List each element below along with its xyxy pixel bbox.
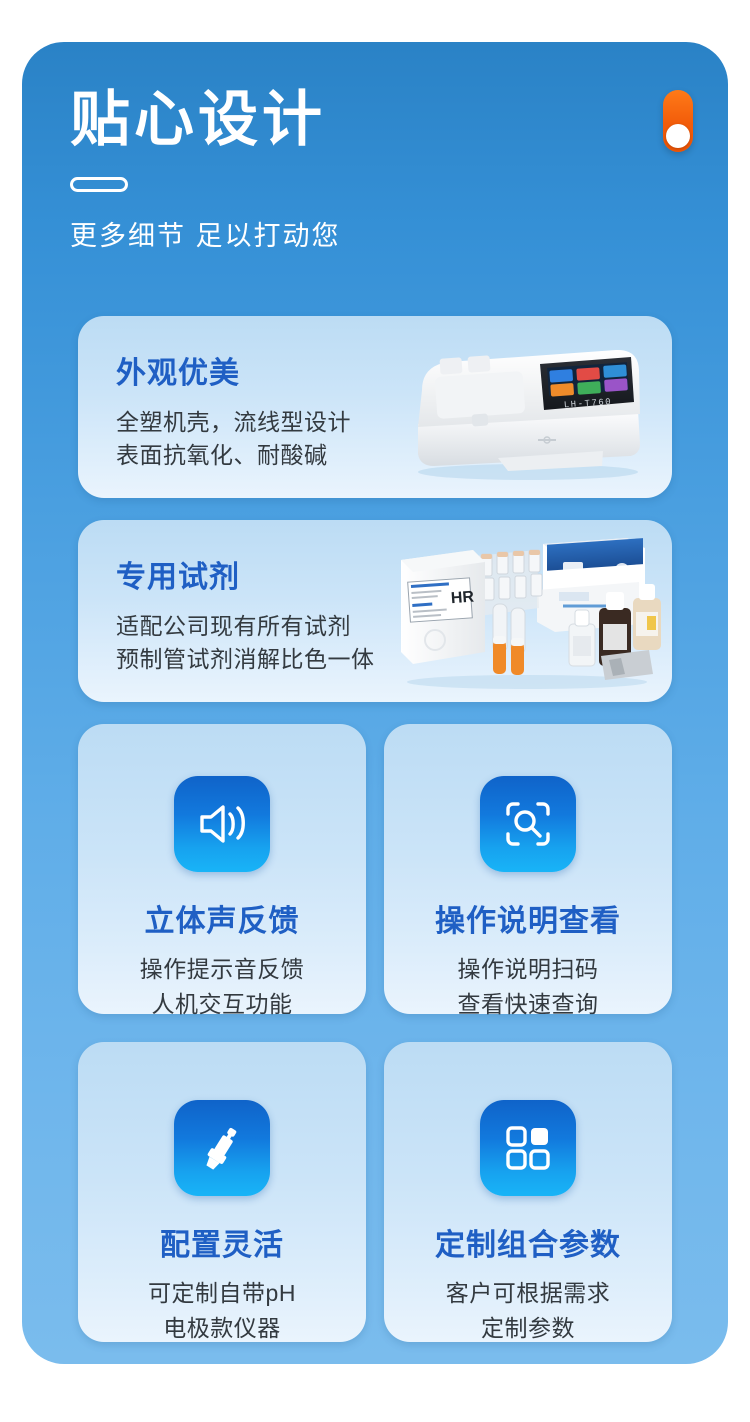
card-text-block: 专用试剂 适配公司现有所有试剂 预制管试剂消解比色一体: [116, 552, 375, 677]
scan-search-icon: [480, 776, 576, 872]
card-description: 适配公司现有所有试剂 预制管试剂消解比色一体: [116, 610, 375, 677]
feature-card-manual-lookup[interactable]: 操作说明查看 操作说明扫码 查看快速查询: [384, 724, 672, 1014]
svg-text:HR: HR: [450, 589, 475, 608]
card-description-line-1: 全塑机壳，流线型设计: [116, 406, 351, 439]
title-underline-decoration: [70, 177, 128, 192]
reagent-kit-image: HR: [387, 532, 662, 690]
card-heading: 外观优美: [116, 348, 351, 392]
promo-panel: 贴心设计 更多细节 足以打动您 外观优美 全塑机壳，流线型设计 表面抗氧化、耐酸…: [22, 42, 728, 1364]
card-description-line-1: 客户可根据需求: [384, 1276, 672, 1311]
card-heading: 定制组合参数: [384, 1220, 672, 1264]
card-description-line-2: 电极款仪器: [78, 1311, 366, 1346]
card-description-line-2: 表面抗氧化、耐酸碱: [116, 439, 351, 472]
feature-card-flexible-config[interactable]: 配置灵活 可定制自带pH 电极款仪器: [78, 1042, 366, 1342]
grid-squares-glyph: [500, 1120, 556, 1176]
feature-card-reagent[interactable]: 专用试剂 适配公司现有所有试剂 预制管试剂消解比色一体: [78, 520, 672, 702]
card-heading: 专用试剂: [116, 552, 375, 596]
card-description-line-2: 人机交互功能: [78, 987, 366, 1022]
card-text-block: 外观优美 全塑机壳，流线型设计 表面抗氧化、耐酸碱: [116, 348, 351, 473]
card-description: 客户可根据需求 定制参数: [384, 1276, 672, 1345]
card-description-line-1: 操作说明扫码: [384, 952, 672, 987]
card-heading: 配置灵活: [78, 1220, 366, 1264]
card-description: 操作说明扫码 查看快速查询: [384, 952, 672, 1021]
card-description: 操作提示音反馈 人机交互功能: [78, 952, 366, 1021]
card-heading: 立体声反馈: [78, 896, 366, 940]
page-title: 贴心设计: [70, 86, 688, 153]
card-description: 全塑机壳，流线型设计 表面抗氧化、耐酸碱: [116, 406, 351, 473]
card-description-line-2: 预制管试剂消解比色一体: [116, 643, 375, 676]
card-heading: 操作说明查看: [384, 896, 672, 940]
header: 贴心设计 更多细节 足以打动您: [70, 86, 688, 253]
card-description-line-2: 查看快速查询: [384, 987, 672, 1022]
card-description-line-1: 操作提示音反馈: [78, 952, 366, 987]
scan-search-glyph: [500, 796, 556, 852]
speaker-volume-glyph: [194, 796, 250, 852]
card-description-line-1: 可定制自带pH: [78, 1276, 366, 1311]
card-description-line-2: 定制参数: [384, 1311, 672, 1346]
card-description: 可定制自带pH 电极款仪器: [78, 1276, 366, 1345]
feature-card-appearance[interactable]: 外观优美 全塑机壳，流线型设计 表面抗氧化、耐酸碱: [78, 316, 672, 498]
toggle-switch-icon[interactable]: [663, 90, 693, 152]
analyzer-instrument-image: LH-T760: [388, 332, 658, 482]
speaker-volume-icon: [174, 776, 270, 872]
feature-card-stereo-sound[interactable]: 立体声反馈 操作提示音反馈 人机交互功能: [78, 724, 366, 1014]
ph-electrode-probe-glyph: [194, 1120, 250, 1176]
grid-squares-icon: [480, 1100, 576, 1196]
feature-card-custom-parameters[interactable]: 定制组合参数 客户可根据需求 定制参数: [384, 1042, 672, 1342]
card-description-line-1: 适配公司现有所有试剂: [116, 610, 375, 643]
page-subtitle: 更多细节 足以打动您: [70, 214, 688, 253]
toggle-knob: [666, 124, 690, 148]
ph-electrode-probe-icon: [174, 1100, 270, 1196]
